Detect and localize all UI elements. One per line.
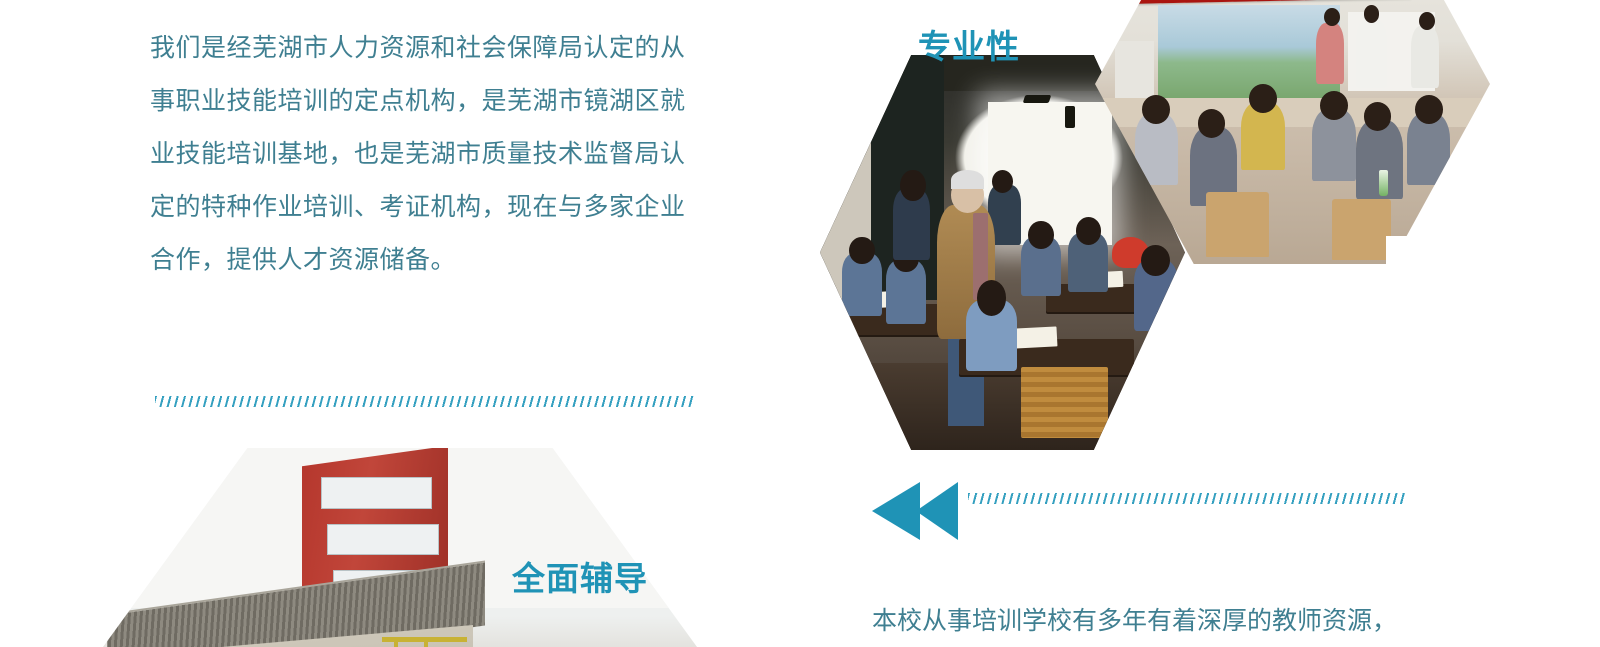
intro-paragraph: 我们是经芜湖市人力资源和社会保障局认定的从事职业技能培训的定点机构，是芜湖市镜湖… (150, 22, 695, 287)
ceiling-lamp-icon (1023, 95, 1052, 103)
student-head (977, 280, 1006, 316)
water-bottle (1379, 170, 1388, 196)
attendee (1312, 109, 1355, 181)
layout-notch (1386, 236, 1506, 276)
hexagon-photo-forklift (95, 448, 705, 647)
staff-head (1419, 12, 1435, 30)
double-chevron-left-icon (872, 480, 958, 542)
attendee-head (1249, 84, 1277, 113)
student-head (1028, 221, 1054, 249)
assistant-head (900, 170, 926, 202)
student-head (849, 237, 875, 265)
bottom-paragraph: 本校从事培训学校有多年有着深厚的教师资源， (872, 598, 1572, 644)
instructor-hair (951, 170, 984, 190)
attendee-head (1364, 102, 1392, 131)
attendee (1407, 113, 1450, 185)
speaker-male (1356, 19, 1388, 87)
zigzag-dotted-divider-right (968, 493, 1406, 504)
ceiling-speaker-icon (1065, 106, 1075, 128)
podium (1115, 41, 1155, 99)
balcony-window (327, 524, 439, 555)
promo-page: 我们是经芜湖市人力资源和社会保障局认定的从事职业技能培训的定点机构，是芜湖市镜湖… (0, 0, 1600, 647)
student-head (1076, 217, 1102, 245)
section-heading-comprehensive: 全面辅导 (512, 552, 648, 600)
speaker-female (1316, 23, 1344, 84)
floor (820, 363, 1185, 450)
speaker-head (1364, 5, 1380, 23)
attendee-head (1142, 95, 1170, 124)
attendee-head (1320, 91, 1348, 120)
chair (1206, 192, 1269, 257)
forklift-mast (424, 641, 428, 647)
projection-screen (1158, 5, 1340, 99)
forklift-mast (394, 641, 398, 647)
attendee-head (1415, 95, 1443, 124)
wooden-chair (1021, 367, 1109, 438)
section-heading-professional: 专业性 (918, 20, 1020, 68)
event-banner: 清水街道2015年叉车技能培训开班典礼（民生工程） (1127, 0, 1411, 4)
forklift-yard-scene (95, 448, 705, 647)
chair (1332, 199, 1391, 260)
staff-member (1411, 26, 1439, 87)
attendee-head (1198, 109, 1226, 138)
balcony-window (321, 477, 433, 508)
zigzag-dotted-divider-left (155, 396, 695, 407)
